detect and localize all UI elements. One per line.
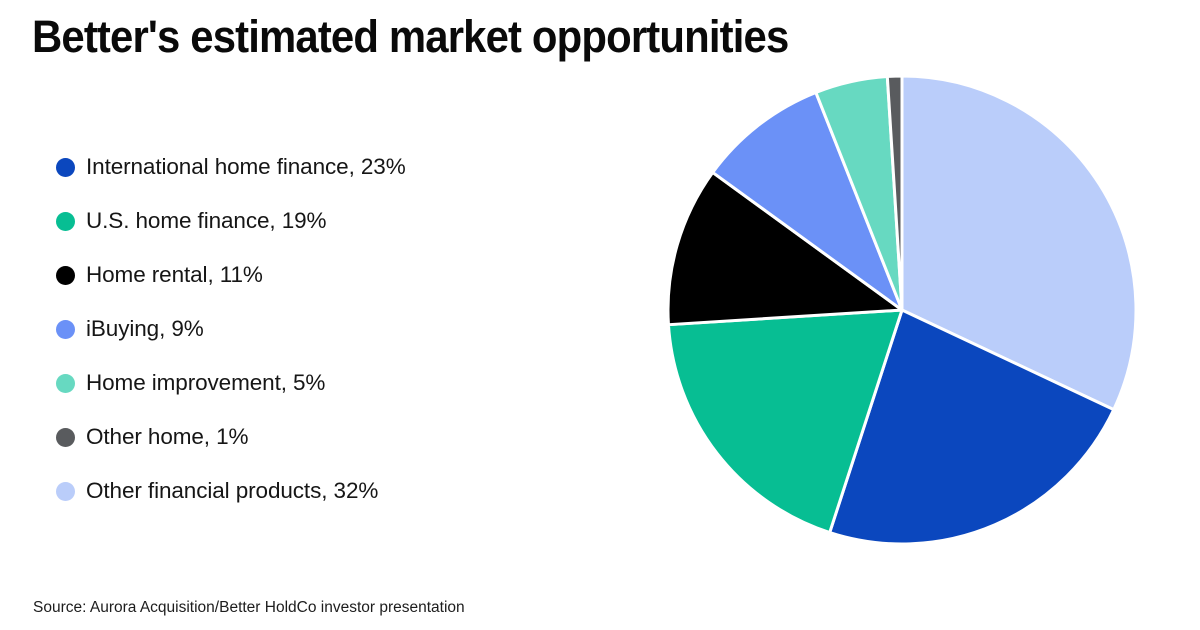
legend-item-us-home-finance[interactable]: U.S. home finance, 19%: [56, 194, 536, 248]
legend-item-international-home-finance[interactable]: International home finance, 23%: [56, 140, 536, 194]
page-title: Better's estimated market opportunities: [32, 8, 962, 66]
pie-slice-group: [668, 76, 1136, 544]
legend-item-label: Home improvement, 5%: [86, 370, 325, 396]
source-note: Source: Aurora Acquisition/Better HoldCo…: [33, 598, 465, 618]
chart-legend: International home finance, 23% U.S. hom…: [56, 140, 536, 518]
legend-item-other-financial-products[interactable]: Other financial products, 32%: [56, 464, 536, 518]
legend-item-label: International home finance, 23%: [86, 154, 406, 180]
legend-swatch-icon: [56, 320, 75, 339]
chart-page: Better's estimated market opportunities …: [0, 0, 1200, 630]
legend-item-label: iBuying, 9%: [86, 316, 204, 342]
legend-item-ibuying[interactable]: iBuying, 9%: [56, 302, 536, 356]
legend-swatch-icon: [56, 374, 75, 393]
legend-swatch-icon: [56, 266, 75, 285]
legend-item-home-rental[interactable]: Home rental, 11%: [56, 248, 536, 302]
legend-item-label: U.S. home finance, 19%: [86, 208, 326, 234]
pie-chart: [667, 75, 1137, 545]
legend-item-label: Other home, 1%: [86, 424, 248, 450]
legend-item-home-improvement[interactable]: Home improvement, 5%: [56, 356, 536, 410]
legend-item-label: Home rental, 11%: [86, 262, 263, 288]
legend-swatch-icon: [56, 158, 75, 177]
pie-chart-svg: [667, 75, 1137, 545]
legend-item-label: Other financial products, 32%: [86, 478, 378, 504]
legend-swatch-icon: [56, 212, 75, 231]
legend-swatch-icon: [56, 482, 75, 501]
legend-swatch-icon: [56, 428, 75, 447]
legend-item-other-home[interactable]: Other home, 1%: [56, 410, 536, 464]
